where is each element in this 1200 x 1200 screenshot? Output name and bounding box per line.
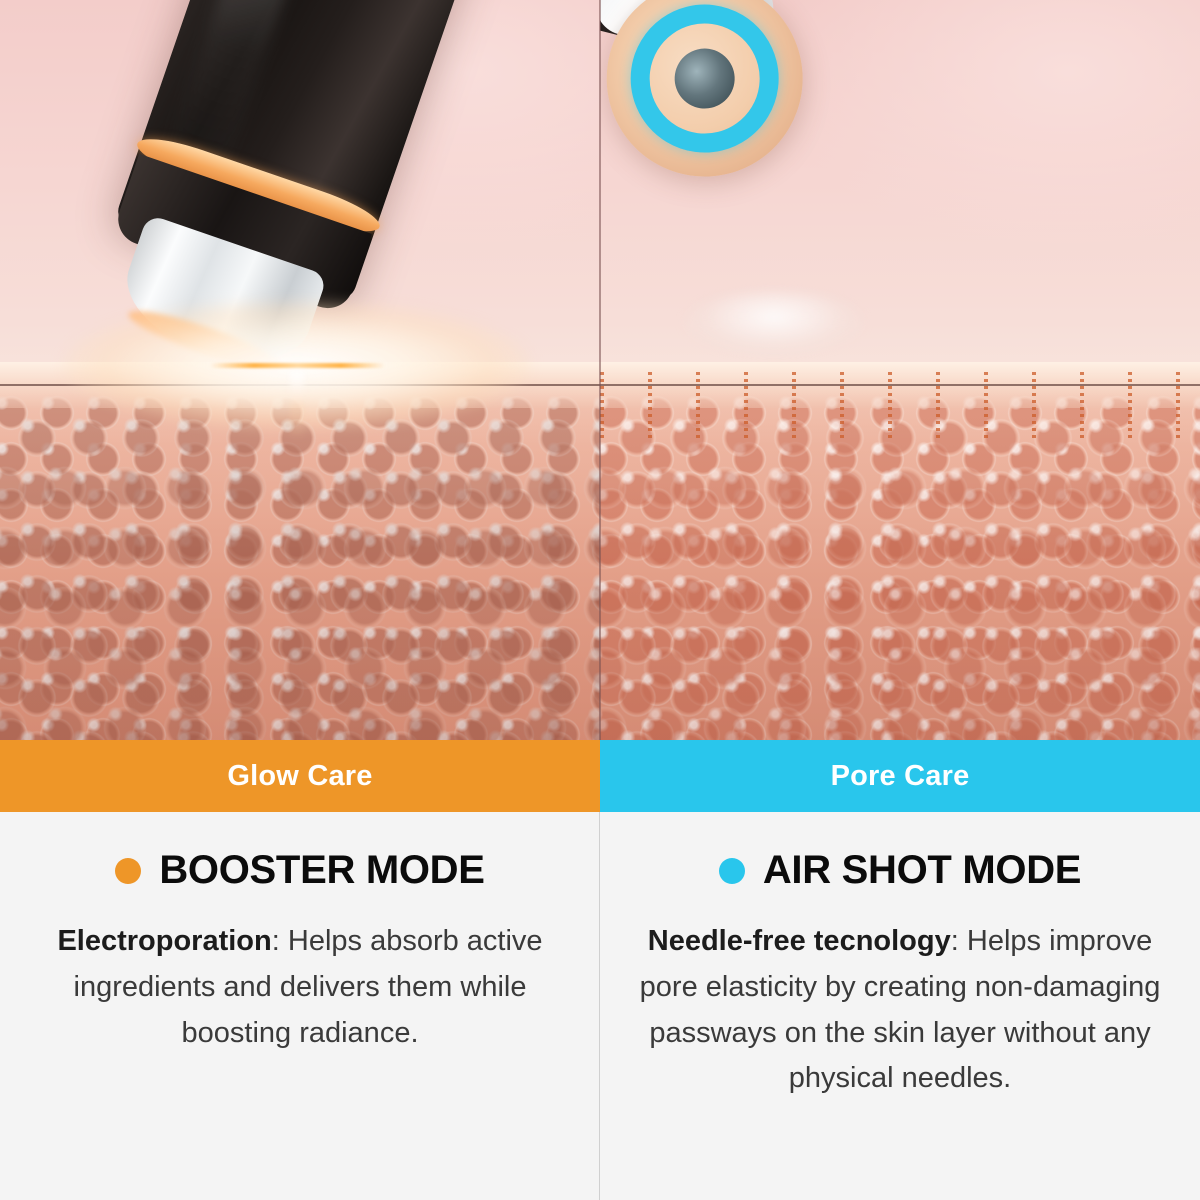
- booster-mode-description: Electroporation: Helps absorb active ing…: [26, 919, 574, 1056]
- image-panel-divider: [599, 0, 601, 740]
- text-column-divider: [599, 812, 600, 1200]
- booster-description-lead: Electroporation: [57, 925, 271, 957]
- booster-mode-heading: BOOSTER MODE: [115, 848, 484, 893]
- air-shot-description-lead: Needle-free tecnology: [648, 925, 951, 957]
- description-section: BOOSTER MODE Electroporation: Helps abso…: [0, 812, 1200, 1200]
- glow-care-text-column: BOOSTER MODE Electroporation: Helps abso…: [0, 812, 600, 1200]
- air-shot-mode-heading: AIR SHOT MODE: [719, 848, 1081, 893]
- air-shot-device-illustration: [600, 0, 811, 163]
- air-jet-puff: [684, 292, 864, 354]
- air-shot-mode-title: AIR SHOT MODE: [763, 848, 1081, 893]
- booster-description-separator: :: [272, 925, 288, 957]
- device-imagery-section: [0, 0, 1200, 740]
- glow-care-banner: Glow Care: [0, 740, 600, 812]
- glow-contact-line: [210, 363, 385, 368]
- glow-care-banner-label: Glow Care: [227, 760, 372, 793]
- pore-care-banner-label: Pore Care: [831, 760, 970, 793]
- micro-passway-channels: [600, 372, 1200, 442]
- pore-care-banner: Pore Care: [600, 740, 1200, 812]
- air-shot-description-separator: :: [951, 925, 967, 957]
- pore-care-image-panel: [600, 0, 1200, 740]
- air-shot-mode-description: Needle-free tecnology: Helps improve por…: [626, 919, 1174, 1102]
- product-comparison-infographic: Glow Care Pore Care BOOSTER MODE Electro…: [0, 0, 1200, 1200]
- booster-mode-title: BOOSTER MODE: [159, 848, 484, 893]
- cyan-bullet-icon: [719, 858, 745, 884]
- orange-bullet-icon: [115, 858, 141, 884]
- pore-care-text-column: AIR SHOT MODE Needle-free tecnology: Hel…: [600, 812, 1200, 1200]
- skin-cross-section: [600, 362, 1200, 740]
- banner-row: Glow Care Pore Care: [0, 740, 1200, 812]
- ingredient-delivery-stream: [290, 372, 304, 442]
- glow-care-image-panel: [0, 0, 600, 740]
